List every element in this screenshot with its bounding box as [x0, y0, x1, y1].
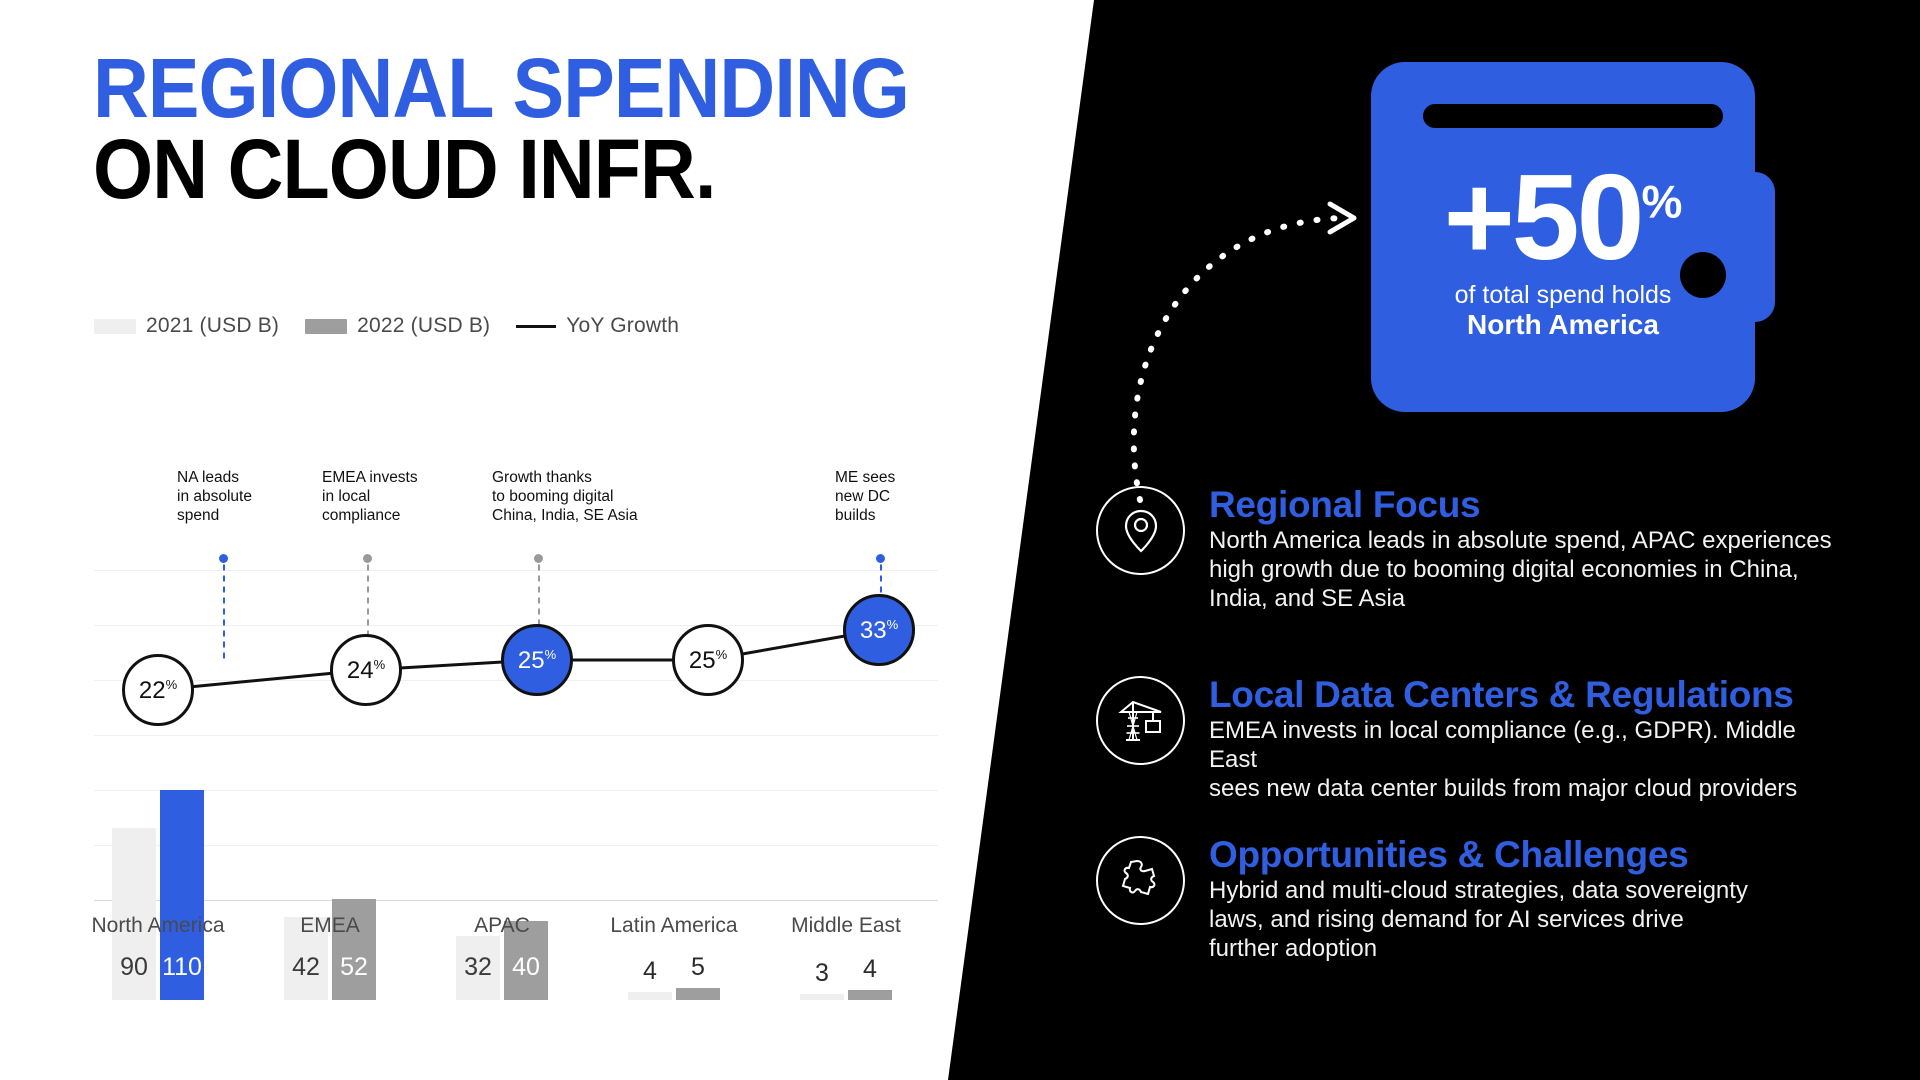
highlight-value-number: +50 [1444, 149, 1642, 285]
infographic-canvas: REGIONAL SPENDING ON CLOUD INFR. 2021 (U… [0, 0, 1920, 1080]
feature-title-regional-focus: Regional Focus [1209, 486, 1832, 523]
feature-local-data-centers: Local Data Centers & Regulations EMEA in… [1096, 676, 1849, 803]
feature-opportunities-challenges: Opportunities & Challenges Hybrid and mu… [1096, 836, 1748, 963]
map-pin-icon [1096, 486, 1185, 575]
highlight-caption-line1: of total spend holds [1455, 281, 1672, 309]
feature-title-opportunities-challenges: Opportunities & Challenges [1209, 836, 1748, 873]
crane-icon [1096, 676, 1185, 765]
feature-body-local-data-centers: EMEA invests in local compliance (e.g., … [1209, 717, 1849, 803]
map-pin-glyph [1121, 506, 1161, 556]
highlight-value: +50% [1444, 164, 1683, 271]
right-panel: +50% of total spend holds North America [0, 0, 1920, 1080]
puzzle-piece-icon [1096, 836, 1185, 925]
dotted-arrow-icon [1130, 180, 1450, 510]
highlight-caption: of total spend holds North America [1455, 281, 1672, 340]
highlight-caption-line2: North America [1455, 309, 1672, 340]
highlight-value-unit: % [1642, 175, 1683, 227]
feature-title-local-data-centers: Local Data Centers & Regulations [1209, 676, 1849, 713]
puzzle-glyph [1118, 857, 1164, 905]
feature-regional-focus: Regional Focus North America leads in ab… [1096, 486, 1832, 613]
crane-glyph [1117, 696, 1165, 746]
feature-body-regional-focus: North America leads in absolute spend, A… [1209, 527, 1832, 613]
feature-body-opportunities-challenges: Hybrid and multi-cloud strategies, data … [1209, 877, 1748, 963]
